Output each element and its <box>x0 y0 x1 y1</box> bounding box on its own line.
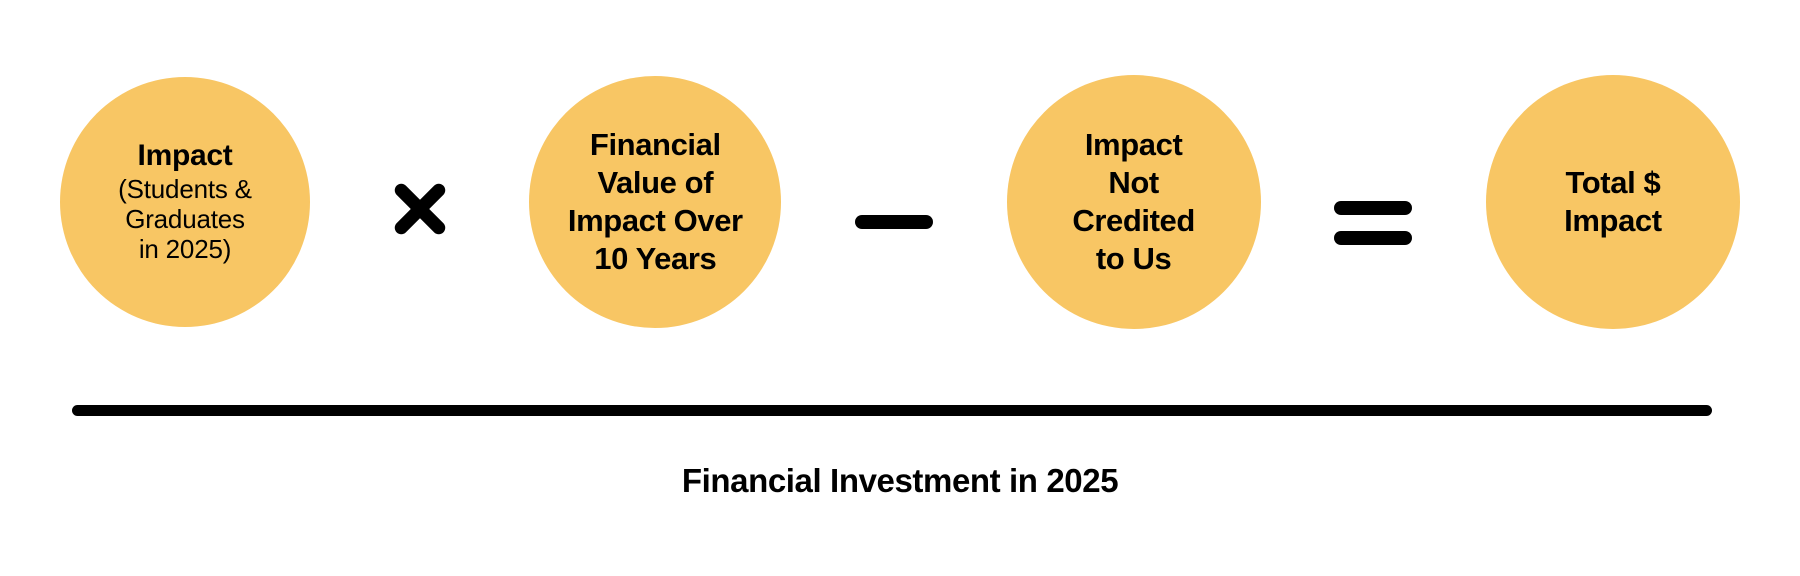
circle-3-line-3: Credited <box>1072 202 1195 240</box>
circle-2-text-block: Financial Value of Impact Over 10 Years <box>558 126 753 277</box>
minus-stroke <box>855 215 933 229</box>
circle-total-dollar-impact: Total $ Impact <box>1486 75 1740 329</box>
circle-4-line-1: Total $ <box>1564 164 1662 202</box>
equals-operator-icon <box>1334 201 1412 245</box>
equation-numerator-row: Impact (Students & Graduates in 2025) Fi… <box>60 62 1740 342</box>
circle-2-line-3: Impact Over <box>568 202 743 240</box>
circle-1-line-1: (Students & <box>118 174 252 204</box>
circle-2-line-2: Value of <box>568 164 743 202</box>
minus-operator-icon <box>855 215 933 229</box>
circle-4-text-block: Total $ Impact <box>1554 164 1672 240</box>
multiply-operator-icon <box>384 173 456 245</box>
fraction-divider-rule <box>72 405 1712 416</box>
circle-2-line-1: Financial <box>568 126 743 164</box>
diagram-canvas: Impact (Students & Graduates in 2025) Fi… <box>0 0 1800 576</box>
circle-financial-value-of-impact: Financial Value of Impact Over 10 Years <box>529 76 781 328</box>
equals-stroke-top <box>1334 201 1412 215</box>
circle-3-line-2: Not <box>1072 164 1195 202</box>
circle-impact-not-credited-to-us: Impact Not Credited to Us <box>1007 75 1261 329</box>
circle-1-text-block: Impact (Students & Graduates in 2025) <box>108 139 262 264</box>
circle-3-line-4: to Us <box>1072 240 1195 278</box>
circle-3-text-block: Impact Not Credited to Us <box>1062 126 1205 277</box>
circle-3-line-1: Impact <box>1072 126 1195 164</box>
circle-4-line-2: Impact <box>1564 202 1662 240</box>
denominator-caption: Financial Investment in 2025 <box>0 462 1800 500</box>
circle-1-line-bold: Impact <box>118 139 252 174</box>
circle-2-line-4: 10 Years <box>568 240 743 278</box>
equals-stroke-bottom <box>1334 231 1412 245</box>
circle-impact-students-graduates: Impact (Students & Graduates in 2025) <box>60 77 310 327</box>
circle-1-line-2: Graduates <box>118 204 252 234</box>
circle-1-line-3: in 2025) <box>118 234 252 264</box>
